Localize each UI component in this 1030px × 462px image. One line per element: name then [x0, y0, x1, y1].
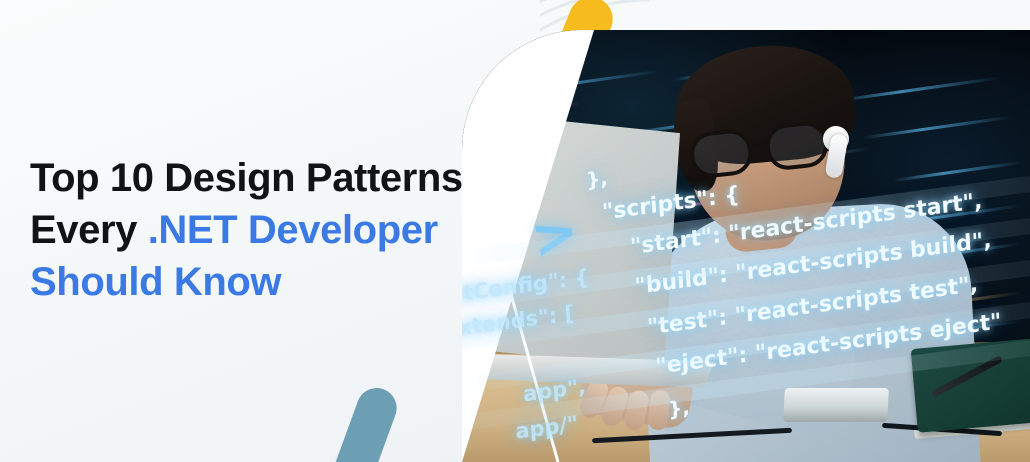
- hero-photo: > intConfig": { "extends": [ app", app/"…: [462, 30, 1030, 462]
- headline-line-2-accent: .NET Developer: [148, 208, 438, 252]
- green-notebook: [911, 335, 1030, 433]
- headline-line-2: Every .NET Developer: [30, 204, 530, 256]
- headline-line-2-prefix: Every: [30, 208, 148, 252]
- headline-line-3: Should Know: [30, 256, 530, 308]
- banner: Top 10 Design Patterns Every .NET Develo…: [0, 0, 1030, 462]
- page-title: Top 10 Design Patterns Every .NET Develo…: [30, 152, 530, 308]
- headline-line-1: Top 10 Design Patterns: [30, 152, 530, 204]
- external-hard-drive: [783, 388, 889, 422]
- photo-wedge-hairline: [462, 30, 702, 462]
- glasses-lens-right: [764, 120, 830, 172]
